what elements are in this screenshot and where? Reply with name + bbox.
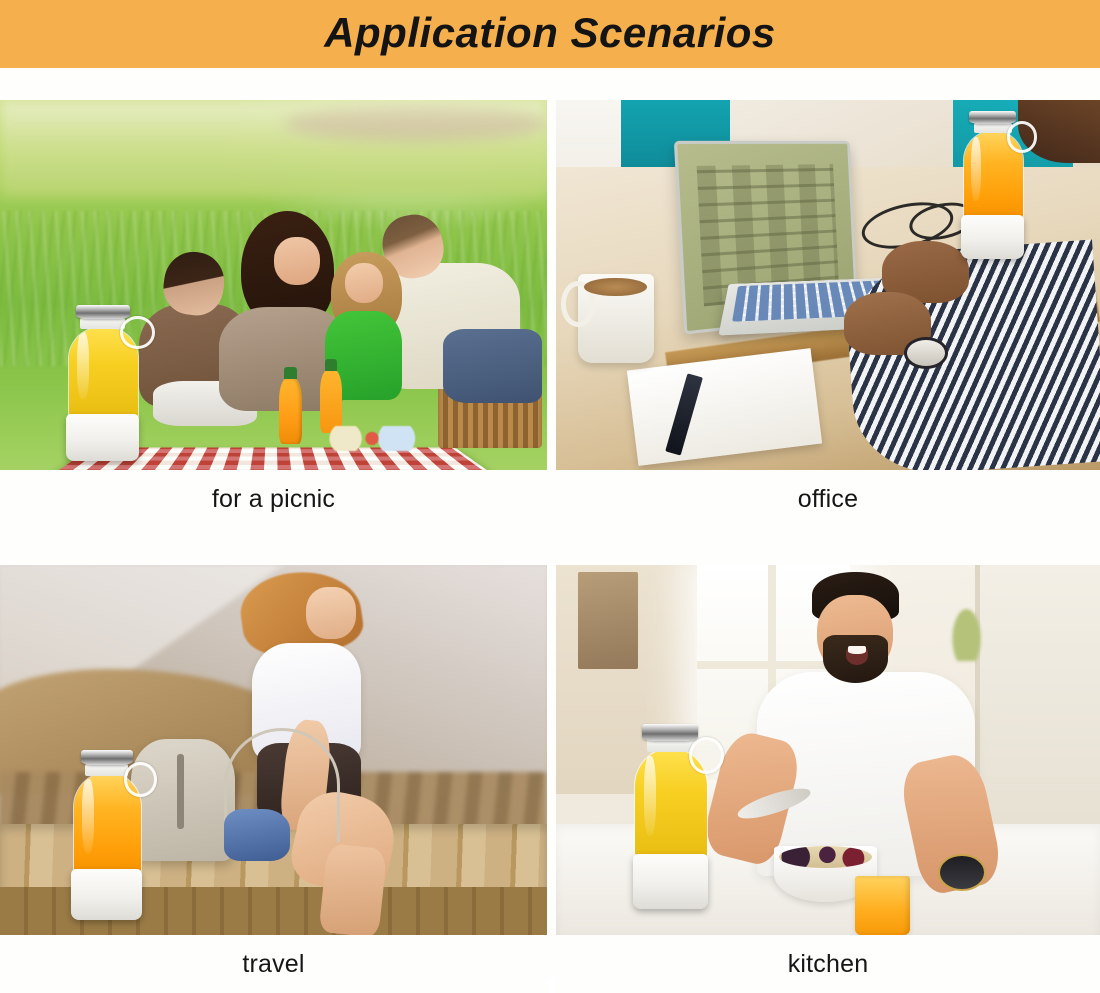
application-scenarios-page: Application Scenarios [0, 0, 1100, 978]
portable-blender-bottle [959, 111, 1027, 259]
wall-picture-frame [578, 572, 638, 668]
bottle-cap [76, 305, 130, 319]
juice-bottle-2 [320, 370, 342, 433]
sneakers [224, 809, 290, 861]
bottle-motor-base [71, 869, 141, 920]
bottle-neck [85, 764, 128, 776]
orange-juice-glass [855, 876, 909, 935]
kitchen-scene [556, 565, 1100, 935]
bottle-motor-base [66, 414, 139, 461]
caption-label: kitchen [788, 950, 869, 979]
woman-face [306, 587, 355, 639]
bottle-handle-ring-icon [1007, 121, 1037, 152]
bottle-handle-ring-icon [124, 762, 158, 797]
bottle-motor-base [961, 215, 1024, 259]
scenario-card-office: office [556, 100, 1100, 528]
caption-label: travel [242, 950, 304, 979]
scenario-photo-kitchen [556, 565, 1100, 935]
bottle-highlight [82, 779, 93, 853]
wristwatch [904, 337, 948, 369]
picnic-scene [0, 100, 547, 470]
coffee-surface [584, 278, 647, 297]
bottle-handle-ring-icon [120, 316, 155, 348]
kitchen-doorway [975, 565, 1100, 839]
office-scene [556, 100, 1100, 470]
bottle-neck [80, 318, 124, 329]
woman-leg-lower [318, 843, 387, 935]
mother-face [274, 237, 320, 285]
portable-blender-bottle [63, 305, 142, 460]
bottle-highlight [644, 756, 656, 836]
park-path [284, 107, 547, 140]
scenario-card-picnic: for a picnic [0, 100, 547, 528]
header-banner: Application Scenarios [0, 0, 1100, 68]
caption-label: for a picnic [212, 485, 335, 514]
picnic-food [328, 426, 416, 452]
scenario-caption-travel: travel [0, 935, 547, 993]
bottle-cap [81, 750, 133, 765]
scenario-caption-picnic: for a picnic [0, 470, 547, 528]
man-wristwatch [938, 854, 986, 891]
page-title: Application Scenarios [324, 12, 776, 54]
scenario-caption-kitchen: kitchen [556, 935, 1100, 993]
girl-face [345, 263, 383, 304]
bottle-highlight [971, 137, 981, 201]
travel-scene [0, 565, 547, 935]
bottle-highlight [77, 332, 89, 399]
father-jeans [443, 329, 541, 403]
portable-blender-bottle [68, 750, 145, 920]
bottle-neck [974, 123, 1012, 133]
scenario-card-travel: travel [0, 565, 547, 993]
bottle-cap [969, 111, 1015, 124]
scenario-photo-picnic [0, 100, 547, 470]
scenario-photo-travel [0, 565, 547, 935]
scenario-caption-office: office [556, 470, 1100, 528]
scenario-card-kitchen: kitchen [556, 565, 1100, 993]
bottle-cap [642, 724, 697, 741]
backpack [131, 739, 235, 861]
scenario-photo-office [556, 100, 1100, 470]
bottle-neck [647, 739, 693, 752]
portable-blender-bottle [629, 724, 711, 909]
bottle-motor-base [633, 854, 708, 910]
juice-bottle-1 [279, 378, 302, 445]
house-plant [942, 587, 991, 661]
caption-label: office [798, 485, 859, 514]
